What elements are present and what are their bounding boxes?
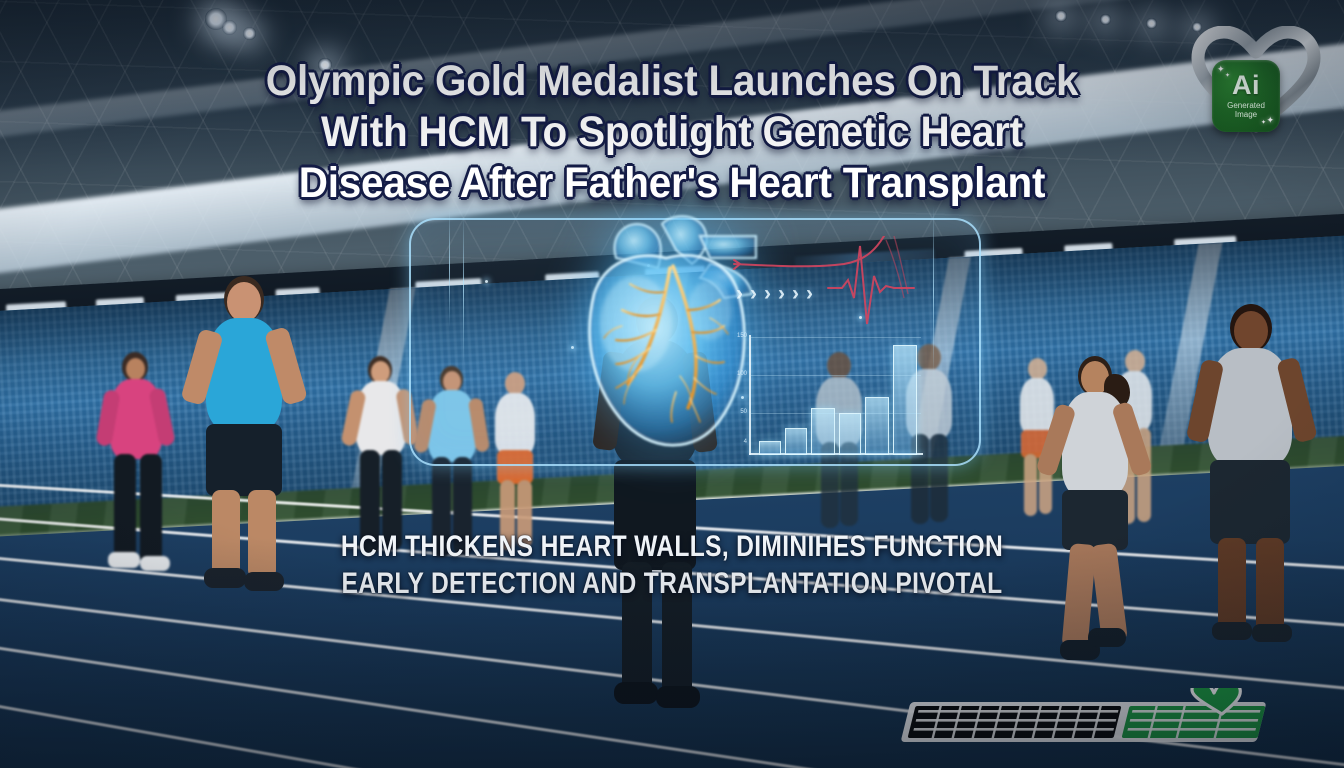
runner-face: [126, 358, 145, 380]
hologram-scanline: [449, 208, 450, 328]
chart-ytick-label: 50: [727, 409, 747, 415]
runner-leg: [212, 490, 240, 576]
runner-leg: [622, 562, 652, 690]
ai-badge-sublabel-line1: Generated: [1227, 101, 1265, 110]
chart-ytick-label: 4: [727, 439, 747, 445]
chart-ytick-label: 150: [727, 333, 747, 339]
runner-face: [227, 282, 261, 322]
runner-leg: [248, 490, 276, 578]
runner-leg: [360, 450, 380, 554]
ai-badge-label: Ai: [1232, 73, 1260, 98]
sparkle-icon: ✦: [1225, 72, 1230, 81]
runner-leg: [662, 562, 692, 694]
sparkle-icon: ✦: [1217, 65, 1225, 74]
runner-shorts: [1062, 490, 1128, 550]
runner-figure: [96, 352, 180, 582]
runner-leg: [1256, 538, 1284, 632]
runner-face: [371, 361, 390, 383]
runner-leg: [140, 454, 162, 564]
runner-shoe: [1252, 624, 1292, 642]
sparkle-icon: ✦: [1261, 119, 1266, 128]
runner-leg: [1218, 538, 1246, 630]
runner-shoe: [614, 682, 658, 704]
runner-leg: [500, 480, 515, 550]
hologram-scanline: [463, 214, 464, 364]
hologram-particle: [485, 280, 488, 283]
holographic-bar-chart: 150 100 50 4: [727, 335, 923, 455]
floodlight-2: [222, 20, 237, 35]
runner-shoe: [140, 556, 170, 571]
chart-bar: [785, 428, 807, 455]
runner-shoe: [1088, 628, 1126, 647]
runner-leg: [1024, 454, 1037, 516]
runner-leg: [453, 457, 472, 555]
floodlight-4: [318, 58, 332, 72]
runner-shorts: [614, 460, 696, 570]
runner-shoe: [244, 572, 284, 591]
sparkle-icon: ✦: [1266, 116, 1274, 125]
runner-shoe: [1212, 622, 1252, 640]
runner-figure: [186, 276, 306, 592]
runner-shoe: [656, 686, 700, 708]
chart-bar: [811, 408, 835, 455]
poster-canvas: ›››››› 150 100 50 4 Olympic Gold Medalis…: [0, 0, 1344, 768]
runner-figure: [1042, 356, 1158, 666]
runner-leg: [432, 457, 451, 557]
runner-leg: [382, 450, 402, 550]
runner-shoe: [204, 568, 246, 588]
runner-figure: [344, 356, 418, 568]
chart-gridline: [749, 337, 921, 338]
chart-bar: [759, 441, 781, 455]
runner-face: [1234, 311, 1268, 351]
ai-badge-sublabel-line2: Image: [1235, 110, 1257, 119]
chart-bar: [893, 345, 917, 455]
ai-badge-chip: Ai Generated Image ✦ ✦ ✦ ✦: [1212, 60, 1280, 132]
chart-y-axis: [749, 335, 751, 455]
chart-ytick-label: 100: [727, 371, 747, 377]
runner-figure: [1192, 304, 1312, 640]
ai-badge-sublabel: Generated Image: [1227, 101, 1265, 120]
site-logo[interactable]: T: [888, 688, 1312, 752]
floodlight-7: [1146, 18, 1157, 29]
ai-generated-badge: Ai Generated Image ✦ ✦ ✦ ✦: [1190, 26, 1322, 154]
floodlight-6: [1100, 14, 1111, 25]
runner-shorts: [206, 424, 282, 496]
runner-leg: [517, 480, 532, 548]
chevron-arrows-icon: ››››››: [736, 282, 820, 306]
floodlight-5: [1055, 10, 1067, 22]
runner-shorts: [1210, 460, 1290, 544]
chart-bar: [865, 397, 889, 455]
runner-shoe: [108, 552, 140, 568]
floodlight-3: [243, 27, 256, 40]
runner-leg: [114, 454, 136, 562]
chart-bar: [839, 413, 861, 455]
